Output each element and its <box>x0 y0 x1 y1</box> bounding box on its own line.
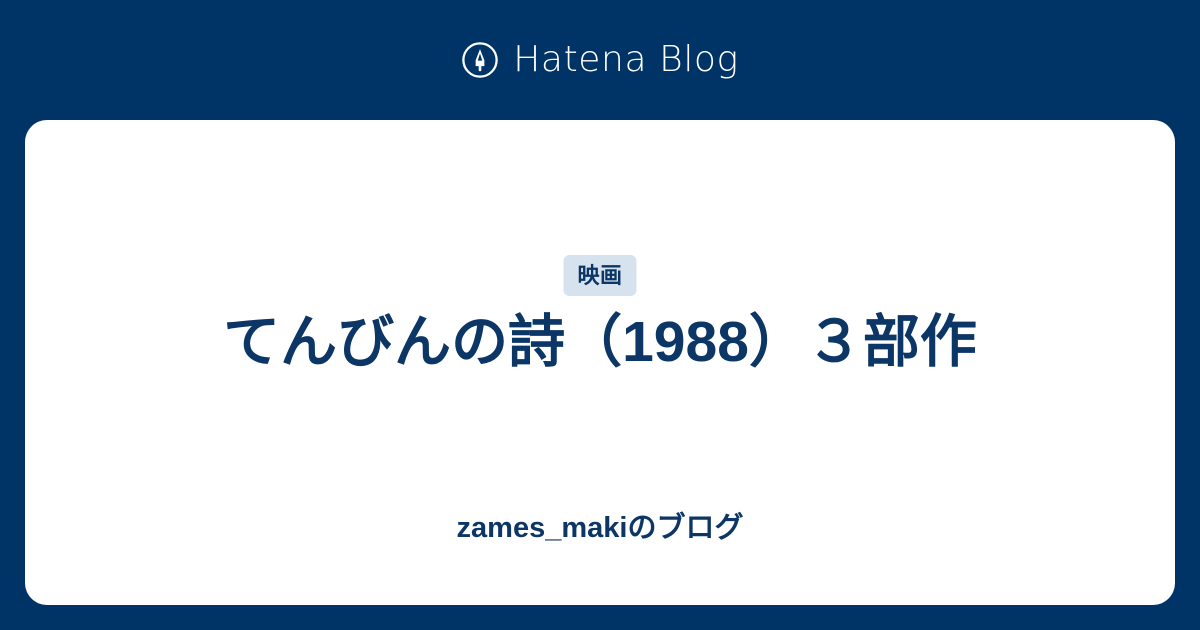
entry-title: てんびんの詩（1988）３部作 <box>60 308 1140 378</box>
category-badge[interactable]: 映画 <box>563 255 636 296</box>
pen-nib-circle-icon <box>461 41 499 79</box>
entry-card-content: 映画 てんびんの詩（1988）３部作 zames_makiのブログ <box>25 120 1175 605</box>
og-image-canvas: Hatena Blog 映画 てんびんの詩（1988）３部作 zames_mak… <box>0 0 1200 630</box>
brand-name: Hatena Blog <box>513 42 739 78</box>
entry-card: 映画 てんびんの詩（1988）３部作 zames_makiのブログ <box>25 120 1175 605</box>
blog-name: zames_makiのブログ <box>100 510 1100 548</box>
brand-header: Hatena Blog <box>0 0 1200 120</box>
